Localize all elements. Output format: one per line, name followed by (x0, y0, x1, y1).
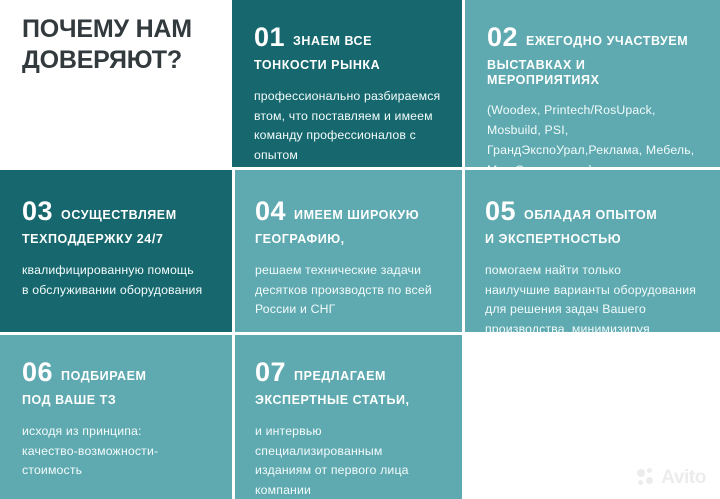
page-title-block: ПОЧЕМУ НАМ ДОВЕРЯЮТ? (0, 0, 232, 167)
card-01-heading-line1: ЗНАЕМ ВСЕ (293, 34, 372, 48)
avito-logo-icon (637, 468, 656, 487)
card-03-heading-line2: ТЕХПОДДЕРЖКУ 24/7 (22, 232, 214, 247)
card-01-heading: 01ЗНАЕМ ВСЕ ТОНКОСТИ РЫНКА (254, 22, 442, 73)
card-06-heading-line1: ПОДБИРАЕМ (61, 369, 146, 383)
card-04-body: решаем технические задачи десятков произ… (255, 261, 446, 321)
card-02-heading-line2: ВЫСТАВКАХ И МЕРОПРИЯТИЯХ (487, 58, 700, 88)
card-05-body: помогаем найти только наилучшие варианты… (485, 261, 704, 332)
card-03-heading: 03ОСУЩЕСТВЛЯЕМ ТЕХПОДДЕРЖКУ 24/7 (22, 196, 214, 247)
card-07[interactable]: 07ПРЕДЛАГАЕМ ЭКСПЕРТНЫЕ СТАТЬИ, и интерв… (235, 335, 462, 499)
card-06[interactable]: 06ПОДБИРАЕМ ПОД ВАШЕ ТЗ исходя из принци… (0, 335, 232, 499)
card-04-heading-line1: ИМЕЕМ ШИРОКУЮ (294, 208, 419, 222)
card-02-body: (Woodex, Printech/RosUpack, Mosbuild, PS… (487, 101, 700, 167)
card-03-number: 03 (22, 196, 53, 226)
why-trust-us-infographic: ПОЧЕМУ НАМ ДОВЕРЯЮТ? 01ЗНАЕМ ВСЕ ТОНКОСТ… (0, 0, 720, 499)
card-07-heading: 07ПРЕДЛАГАЕМ ЭКСПЕРТНЫЕ СТАТЬИ, (255, 357, 448, 408)
card-07-body: и интервью специализированным изданиям о… (255, 422, 448, 499)
card-06-heading-line2: ПОД ВАШЕ ТЗ (22, 393, 218, 408)
card-03[interactable]: 03ОСУЩЕСТВЛЯЕМ ТЕХПОДДЕРЖКУ 24/7 квалифи… (0, 170, 232, 332)
avito-watermark: Avito (637, 468, 706, 487)
card-02[interactable]: 02ЕЖЕГОДНО УЧАСТВУЕМ ВЫСТАВКАХ И МЕРОПРИ… (465, 0, 720, 167)
card-01-number: 01 (254, 22, 285, 52)
card-05-heading-line2: И ЭКСПЕРТНОСТЬЮ (485, 232, 704, 247)
card-07-number: 07 (255, 357, 286, 387)
avito-wordmark: Avito (661, 468, 706, 487)
card-06-body: исходя из принципа: качество-возможности… (22, 422, 218, 482)
card-07-heading-line2: ЭКСПЕРТНЫЕ СТАТЬИ, (255, 393, 448, 408)
card-04-heading-line2: ГЕОГРАФИЮ, (255, 232, 446, 247)
card-05-heading-line1: ОБЛАДАЯ ОПЫТОМ (524, 208, 657, 222)
page-title: ПОЧЕМУ НАМ ДОВЕРЯЮТ? (22, 14, 218, 75)
card-02-heading-line1: ЕЖЕГОДНО УЧАСТВУЕМ (526, 34, 688, 48)
card-05-number: 05 (485, 196, 516, 226)
card-01-heading-line2: ТОНКОСТИ РЫНКА (254, 58, 442, 73)
card-06-heading: 06ПОДБИРАЕМ ПОД ВАШЕ ТЗ (22, 357, 218, 408)
card-04[interactable]: 04ИМЕЕМ ШИРОКУЮ ГЕОГРАФИЮ, решаем технич… (235, 170, 462, 332)
card-03-heading-line1: ОСУЩЕСТВЛЯЕМ (61, 208, 177, 222)
card-03-body: квалифицированную помощь в обслуживании … (22, 261, 214, 301)
card-05-heading: 05ОБЛАДАЯ ОПЫТОМ И ЭКСПЕРТНОСТЬЮ (485, 196, 704, 247)
card-04-heading: 04ИМЕЕМ ШИРОКУЮ ГЕОГРАФИЮ, (255, 196, 446, 247)
card-06-number: 06 (22, 357, 53, 387)
card-05[interactable]: 05ОБЛАДАЯ ОПЫТОМ И ЭКСПЕРТНОСТЬЮ помогае… (465, 170, 720, 332)
card-02-number: 02 (487, 22, 518, 52)
card-04-number: 04 (255, 196, 286, 226)
card-01-body: профессионально разбираемся втом, что по… (254, 87, 442, 167)
card-07-heading-line1: ПРЕДЛАГАЕМ (294, 369, 386, 383)
card-02-heading: 02ЕЖЕГОДНО УЧАСТВУЕМ ВЫСТАВКАХ И МЕРОПРИ… (487, 22, 700, 87)
card-01[interactable]: 01ЗНАЕМ ВСЕ ТОНКОСТИ РЫНКА профессиональ… (232, 0, 462, 167)
